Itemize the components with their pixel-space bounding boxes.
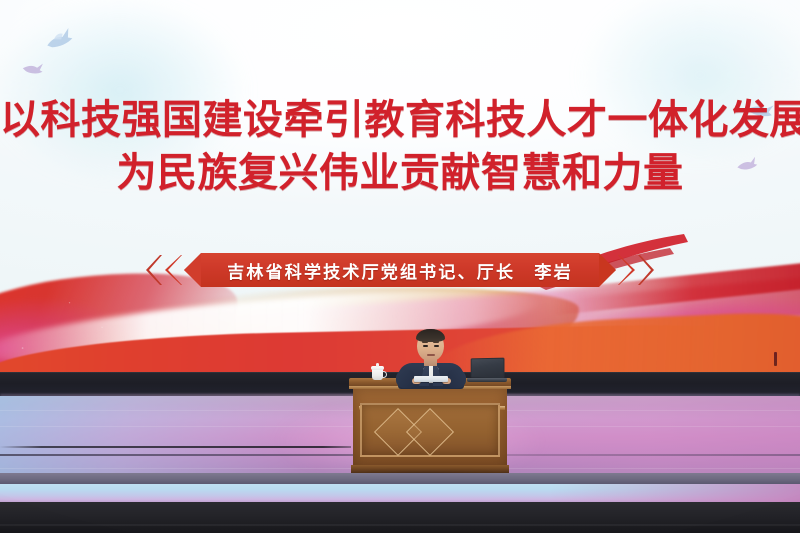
laptop xyxy=(467,358,507,382)
speaker-eyebrow-left xyxy=(422,341,428,343)
speech-documents xyxy=(414,376,448,382)
podium-front-panel xyxy=(360,403,500,457)
screen-right-mark xyxy=(774,352,777,366)
laptop-base xyxy=(467,378,507,382)
speaker-hair xyxy=(416,329,445,342)
title-line-2: 为民族复兴伟业贡献智慧和力量 xyxy=(0,151,800,196)
stage-lip xyxy=(0,473,800,484)
wash-magenta-right xyxy=(518,286,800,372)
tea-cup-knob xyxy=(376,363,379,367)
seated-speaker xyxy=(392,330,470,382)
floor-cable xyxy=(0,446,351,448)
stage-base-dark xyxy=(0,502,800,533)
stage-base-line xyxy=(0,524,800,526)
title-line-1: 以科技强国建设牵引教育科技人才一体化发展 xyxy=(0,98,800,143)
subtitle-text: 吉林省科学技术厅党组书记、厅长 李岩 xyxy=(227,258,573,283)
subtitle-banner: 吉林省科学技术厅党组书记、厅长 李岩 xyxy=(0,253,800,287)
subtitle-banner-body: 吉林省科学技术厅党组书记、厅长 李岩 xyxy=(201,253,599,287)
wooden-podium xyxy=(351,378,509,473)
led-backdrop-screen: 以科技强国建设牵引教育科技人才一体化发展 为民族复兴伟业贡献智慧和力量 吉林省科… xyxy=(0,0,800,372)
screen-title-block: 以科技强国建设牵引教育科技人才一体化发展 为民族复兴伟业贡献智慧和力量 xyxy=(0,98,800,196)
stage-front-edge-right-glow xyxy=(550,484,800,502)
laptop-screen xyxy=(471,358,505,379)
speaker-eye-left xyxy=(423,345,428,347)
podium-diamond-right xyxy=(406,408,454,456)
stage-scene: 以科技强国建设牵引教育科技人才一体化发展 为民族复兴伟业贡献智慧和力量 吉林省科… xyxy=(0,0,800,533)
speaker-eye-right xyxy=(434,345,439,347)
tea-cup xyxy=(371,364,384,380)
speaker-eyebrow-right xyxy=(433,341,439,343)
